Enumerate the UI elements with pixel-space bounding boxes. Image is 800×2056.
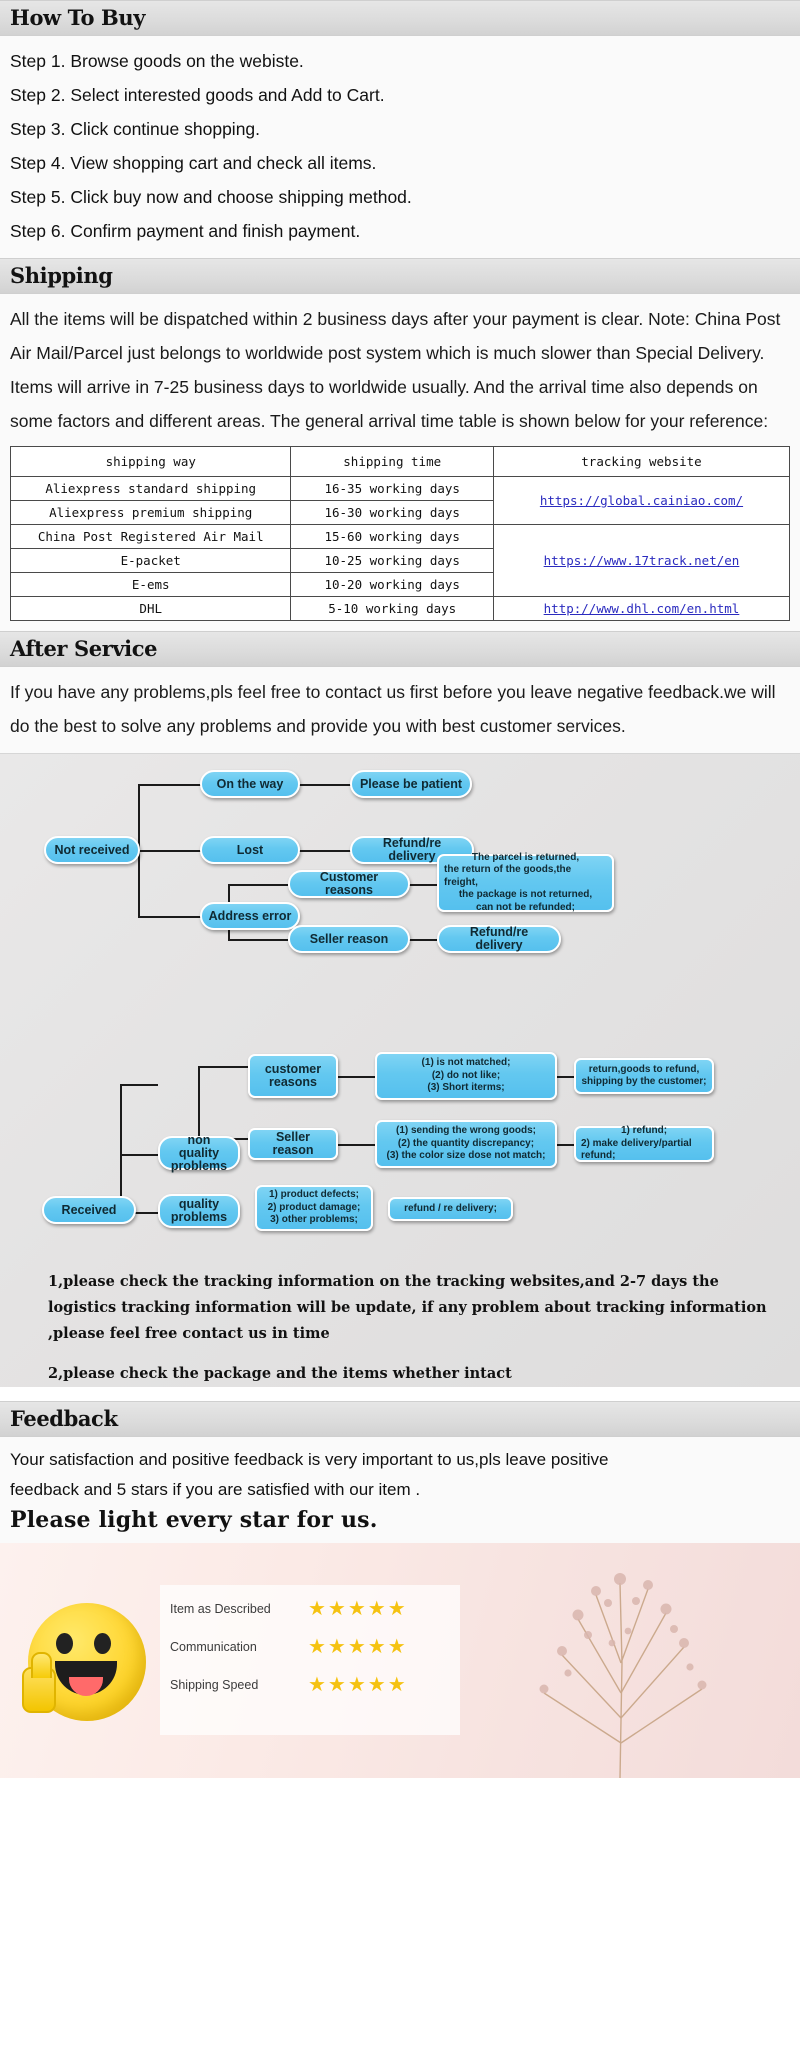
connector-line [138, 916, 204, 918]
cell-shipping-time: 10-20 working days [291, 573, 494, 597]
rating-stars[interactable]: ★★★★★ [308, 1637, 408, 1657]
connector-line [138, 850, 204, 852]
node-not-received: Not received [44, 836, 140, 864]
product-description-page: How To Buy Step 1. Browse goods on the w… [0, 0, 800, 1778]
connector-line [198, 1066, 200, 1138]
step-item: Step 1. Browse goods on the webiste. [10, 44, 790, 78]
column-header-shipping-way: shipping way [11, 447, 291, 477]
node-address-error: Address error [200, 902, 300, 930]
thumbs-up-icon [22, 1667, 56, 1713]
shipping-table: shipping way shipping time tracking webs… [10, 446, 790, 621]
cell-shipping-way: Aliexpress premium shipping [11, 501, 291, 525]
node-quality-problems: quality problems [158, 1194, 240, 1228]
connector-line [138, 850, 140, 916]
rating-panel: Item as Described ★★★★★ Communication ★★… [160, 1585, 460, 1735]
section-header-shipping: Shipping [0, 258, 800, 294]
step-item: Step 3. Click continue shopping. [10, 112, 790, 146]
rating-row: Item as Described ★★★★★ [170, 1599, 460, 1619]
node-lost: Lost [200, 836, 300, 864]
node-seller-reason: Seller reason [248, 1128, 338, 1160]
smiley-face-icon [28, 1603, 146, 1721]
rating-stars[interactable]: ★★★★★ [308, 1675, 408, 1695]
rating-row: Communication ★★★★★ [170, 1637, 460, 1657]
rating-label: Shipping Speed [170, 1678, 308, 1692]
table-header-row: shipping way shipping time tracking webs… [11, 447, 790, 477]
note-item: 1,please check the tracking information … [10, 1269, 790, 1347]
rating-label: Communication [170, 1640, 308, 1654]
cell-shipping-way: China Post Registered Air Mail [11, 525, 291, 549]
cell-shipping-way: DHL [11, 597, 291, 621]
feedback-banner: Item as Described ★★★★★ Communication ★★… [0, 1543, 800, 1778]
rating-row: Shipping Speed ★★★★★ [170, 1675, 460, 1695]
node-refund-re-delivery-2: Refund/re delivery [437, 925, 561, 953]
node-received: Received [42, 1196, 136, 1224]
shipping-paragraph: All the items will be dispatched within … [10, 302, 790, 438]
node-customer-reasons-detail: (1) is not matched; (2) do not like; (3)… [375, 1052, 557, 1100]
tracking-link-dhl[interactable]: http://www.dhl.com/en.html [544, 601, 740, 616]
node-please-be-patient: Please be patient [350, 770, 472, 798]
node-seller-reason: Seller reason [288, 925, 410, 953]
flowchart-not-received: Not received On the way Please be patien… [0, 754, 800, 1054]
cell-shipping-time: 15-60 working days [291, 525, 494, 549]
cell-shipping-way: E-packet [11, 549, 291, 573]
connector-line [138, 784, 204, 786]
tracking-link-cainiao[interactable]: https://global.cainiao.com/ [540, 493, 743, 508]
feedback-paragraph-2: feedback and 5 stars if you are satisfie… [10, 1475, 790, 1505]
connector-line [120, 1084, 122, 1212]
node-on-the-way: On the way [200, 770, 300, 798]
connector-line [228, 884, 288, 886]
connector-line [556, 1076, 574, 1078]
column-header-shipping-time: shipping time [291, 447, 494, 477]
cell-shipping-time: 10-25 working days [291, 549, 494, 573]
cell-shipping-time: 5-10 working days [291, 597, 494, 621]
tracking-link-17track[interactable]: https://www.17track.net/en [544, 553, 740, 568]
after-service-paragraph: If you have any problems,pls feel free t… [10, 675, 790, 743]
rating-label: Item as Described [170, 1602, 308, 1616]
section-header-after-service: After Service [0, 631, 800, 667]
cell-shipping-way: E-ems [11, 573, 291, 597]
node-customer-reasons-result: return,goods to refund, shipping by the … [574, 1058, 714, 1094]
after-service-notes: 1,please check the tracking information … [0, 1269, 800, 1387]
node-non-quality-problems: non quality problems [158, 1136, 240, 1170]
connector-line [337, 1076, 375, 1078]
connector-line [337, 1144, 375, 1146]
connector-line [120, 1154, 158, 1156]
smiley-eye-right [94, 1633, 111, 1654]
how-to-buy-body: Step 1. Browse goods on the webiste. Ste… [0, 36, 800, 258]
step-item: Step 4. View shopping cart and check all… [10, 146, 790, 180]
connector-line [556, 1144, 574, 1146]
column-header-tracking-website: tracking website [493, 447, 789, 477]
connector-line [299, 784, 351, 786]
feedback-headline: Please light every star for us. [10, 1505, 790, 1533]
section-header-feedback: Feedback [0, 1401, 800, 1437]
after-service-body: If you have any problems,pls feel free t… [0, 667, 800, 753]
cell-tracking-link: http://www.dhl.com/en.html [493, 597, 789, 621]
feedback-paragraph-1: Your satisfaction and positive feedback … [10, 1445, 790, 1475]
note-item: 2,please check the package and the items… [10, 1361, 790, 1387]
node-seller-reason-result: 1) refund; 2) make delivery/partial refu… [574, 1126, 714, 1162]
node-customer-reasons: customer reasons [248, 1054, 338, 1098]
cell-shipping-way: Aliexpress standard shipping [11, 477, 291, 501]
table-row: DHL 5-10 working days http://www.dhl.com… [11, 597, 790, 621]
smiley-eye-left [56, 1633, 73, 1654]
smiley-tongue [69, 1677, 103, 1696]
connector-line [198, 1066, 248, 1068]
after-service-diagram-area: Not received On the way Please be patien… [0, 753, 800, 1387]
cell-shipping-time: 16-30 working days [291, 501, 494, 525]
table-row: China Post Registered Air Mail 15-60 wor… [11, 525, 790, 549]
node-parcel-return-note: The parcel is returned, the return of th… [437, 854, 614, 912]
cell-tracking-link: https://www.17track.net/en [493, 525, 789, 597]
connector-line [120, 1084, 158, 1086]
node-seller-reason-detail: (1) sending the wrong goods; (2) the qua… [375, 1120, 557, 1168]
dried-flowers-decoration [470, 1543, 770, 1778]
node-quality-problems-detail: 1) product defects; 2) product damage; 3… [255, 1185, 373, 1231]
flowchart-received: Received non quality problems quality pr… [0, 1054, 800, 1269]
connector-line [228, 939, 288, 941]
step-item: Step 2. Select interested goods and Add … [10, 78, 790, 112]
step-item: Step 5. Click buy now and choose shippin… [10, 180, 790, 214]
cell-tracking-link: https://global.cainiao.com/ [493, 477, 789, 525]
feedback-body: Your satisfaction and positive feedback … [0, 1437, 800, 1543]
rating-stars[interactable]: ★★★★★ [308, 1599, 408, 1619]
table-row: Aliexpress standard shipping 16-35 worki… [11, 477, 790, 501]
step-item: Step 6. Confirm payment and finish payme… [10, 214, 790, 248]
connector-line [299, 850, 351, 852]
section-header-how-to-buy: How To Buy [0, 0, 800, 36]
cell-shipping-time: 16-35 working days [291, 477, 494, 501]
shipping-body: All the items will be dispatched within … [0, 294, 800, 631]
node-customer-reasons: Customer reasons [288, 870, 410, 898]
node-quality-problems-result: refund / re delivery; [388, 1197, 513, 1221]
